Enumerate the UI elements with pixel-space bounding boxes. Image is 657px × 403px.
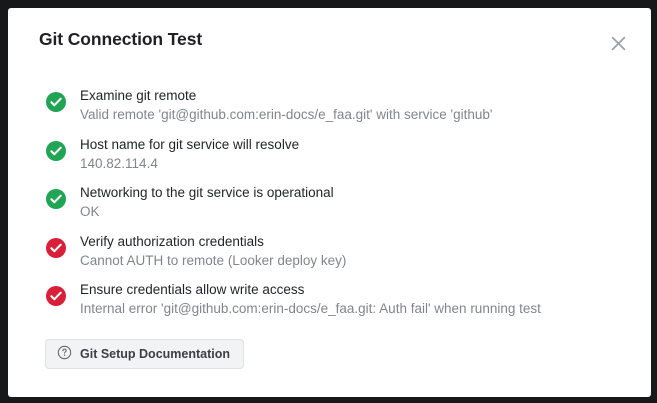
test-detail: Cannot AUTH to remote (Looker deploy key… — [80, 251, 651, 271]
test-label: Verify authorization credentials — [80, 232, 651, 251]
check-circle-icon — [46, 189, 66, 209]
git-setup-documentation-button[interactable]: Git Setup Documentation — [45, 339, 244, 369]
test-label: Host name for git service will resolve — [80, 135, 651, 154]
list-item-text: Examine git remote Valid remote 'git@git… — [46, 86, 651, 125]
test-label: Ensure credentials allow write access — [80, 280, 651, 299]
help-circle-icon — [57, 345, 72, 363]
list-item-text: Networking to the git service is operati… — [46, 183, 651, 222]
list-item-text: Ensure credentials allow write access In… — [46, 280, 651, 319]
page-title: Git Connection Test — [39, 29, 202, 50]
close-icon — [611, 36, 626, 54]
check-circle-icon — [46, 92, 66, 112]
list-item: Ensure credentials allow write access In… — [8, 280, 651, 329]
test-detail: Internal error 'git@github.com:erin-docs… — [80, 299, 651, 319]
test-detail: OK — [80, 202, 651, 222]
list-item-text: Host name for git service will resolve 1… — [46, 135, 651, 174]
test-label: Examine git remote — [80, 86, 651, 105]
check-circle-icon — [46, 286, 66, 306]
test-detail: 140.82.114.4 — [80, 154, 651, 174]
test-result-list: Examine git remote Valid remote 'git@git… — [8, 86, 651, 329]
dialog-footer: Git Setup Documentation — [8, 333, 651, 381]
list-item: Examine git remote Valid remote 'git@git… — [8, 86, 651, 135]
list-item: Networking to the git service is operati… — [8, 183, 651, 232]
git-setup-documentation-label: Git Setup Documentation — [80, 347, 230, 361]
test-detail: Valid remote 'git@github.com:erin-docs/e… — [80, 105, 651, 125]
git-connection-test-dialog: Git Connection Test Examine g — [8, 8, 651, 397]
check-circle-icon — [46, 141, 66, 161]
list-item: Verify authorization credentials Cannot … — [8, 232, 651, 281]
check-circle-icon — [46, 238, 66, 258]
test-label: Networking to the git service is operati… — [80, 183, 651, 202]
list-item: Host name for git service will resolve 1… — [8, 135, 651, 184]
dialog-header: Git Connection Test — [8, 8, 651, 72]
list-item-text: Verify authorization credentials Cannot … — [46, 232, 651, 271]
close-button[interactable] — [605, 32, 631, 58]
window-frame: Git Connection Test Examine g — [0, 0, 657, 403]
